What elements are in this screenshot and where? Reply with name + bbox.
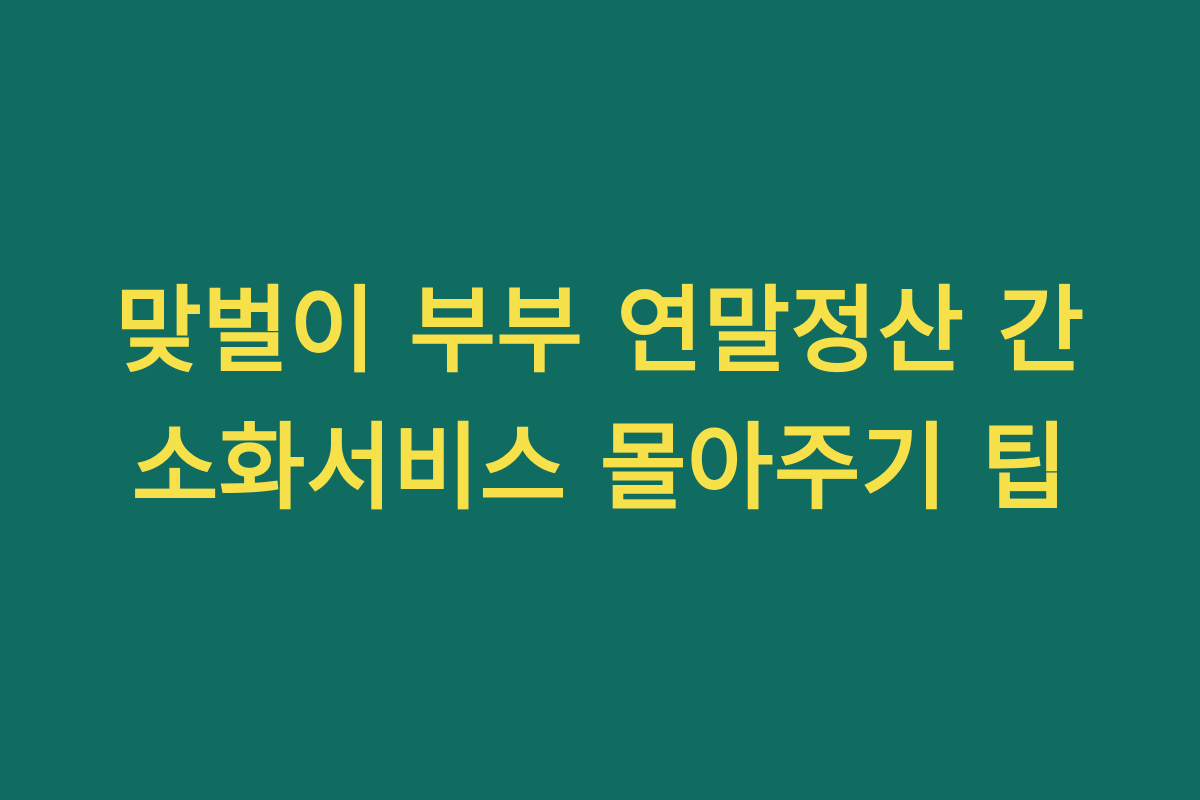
page-title: 맞벌이 부부 연말정산 간 소화서비스 몰아주기 팁	[70, 263, 1130, 537]
banner-canvas: 맞벌이 부부 연말정산 간 소화서비스 몰아주기 팁	[0, 0, 1200, 800]
title-line-1: 맞벌이 부부 연말정산 간	[70, 263, 1130, 400]
title-line-2: 소화서비스 몰아주기 팁	[70, 400, 1130, 537]
